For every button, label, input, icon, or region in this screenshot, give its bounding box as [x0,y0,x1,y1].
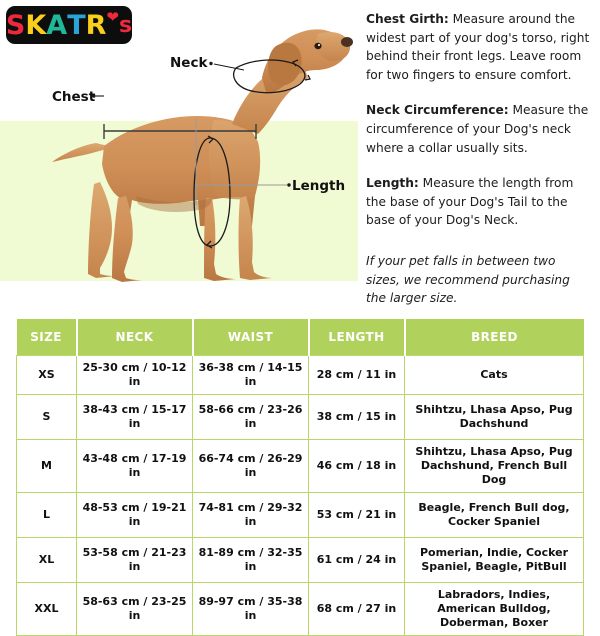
table-header-row: SIZE NECK WAIST LENGTH BREED [17,319,584,356]
cell-size: XXL [17,583,77,636]
dog-illustration-panel: Neck Chest Length [0,0,358,300]
sizing-note: If your pet falls in between two sizes, … [366,252,592,308]
cell-neck: 43-48 cm / 17-19 in [77,440,193,493]
instructions-column: Chest Girth: Measure around the widest p… [366,10,592,308]
cell-size: XL [17,538,77,583]
cell-waist: 66-74 cm / 26-29 in [193,440,309,493]
cell-breed: Shihtzu, Lhasa Apso, Pug Dachshund [405,395,584,440]
table-row: XL 53-58 cm / 21-23 in 81-89 cm / 32-35 … [17,538,584,583]
logo-apostrophe-heart-icon: ❤ [106,4,119,31]
logo-letter-a: A [46,12,67,39]
table-row: L 48-53 cm / 19-21 in 74-81 cm / 29-32 i… [17,493,584,538]
table-row: S 38-43 cm / 15-17 in 58-66 cm / 23-26 i… [17,395,584,440]
cell-waist: 36-38 cm / 14-15 in [193,356,309,395]
logo-letter-s2: s [119,12,132,39]
size-chart-table: SIZE NECK WAIST LENGTH BREED XS 25-30 cm… [16,319,584,636]
column-header-waist: WAIST [193,319,309,356]
cell-size: XS [17,356,77,395]
cell-length: 28 cm / 11 in [309,356,405,395]
cell-neck: 38-43 cm / 15-17 in [77,395,193,440]
table-row: XS 25-30 cm / 10-12 in 36-38 cm / 14-15 … [17,356,584,395]
dog-measurement-diagram [0,0,358,300]
column-header-length: LENGTH [309,319,405,356]
cell-breed: Pomerian, Indie, Cocker Spaniel, Beagle,… [405,538,584,583]
column-header-breed: BREED [405,319,584,356]
instruction-length-heading: Length: [366,176,419,190]
table-row: M 43-48 cm / 17-19 in 66-74 cm / 26-29 i… [17,440,584,493]
cell-waist: 74-81 cm / 29-32 in [193,493,309,538]
table-body: XS 25-30 cm / 10-12 in 36-38 cm / 14-15 … [17,356,584,636]
cell-waist: 58-66 cm / 23-26 in [193,395,309,440]
cell-breed: Shihtzu, Lhasa Apso, Pug Dachshund, Fren… [405,440,584,493]
instruction-neck-circumference: Neck Circumference: Measure the circumfe… [366,101,592,157]
skatrs-logo: SKATR❤s [6,6,132,44]
cell-waist: 81-89 cm / 32-35 in [193,538,309,583]
logo-letter-k: K [25,12,46,39]
column-header-neck: NECK [77,319,193,356]
cell-neck: 48-53 cm / 19-21 in [77,493,193,538]
table-row: XXL 58-63 cm / 23-25 in 89-97 cm / 35-38… [17,583,584,636]
cell-breed: Labradors, Indies, American Bulldog, Dob… [405,583,584,636]
top-section: Neck Chest Length SKATR❤s Chest Girth: M… [0,0,600,300]
cell-length: 53 cm / 21 in [309,493,405,538]
logo-letter-s1: S [6,12,25,39]
cell-length: 46 cm / 18 in [309,440,405,493]
label-chest: Chest [52,89,95,105]
instruction-neck-heading: Neck Circumference: [366,103,509,117]
logo-letter-r: R [86,12,107,39]
cell-length: 61 cm / 24 in [309,538,405,583]
cell-breed: Cats [405,356,584,395]
instruction-chest-heading: Chest Girth: [366,12,449,26]
cell-size: S [17,395,77,440]
cell-size: M [17,440,77,493]
cell-size: L [17,493,77,538]
cell-neck: 25-30 cm / 10-12 in [77,356,193,395]
cell-waist: 89-97 cm / 35-38 in [193,583,309,636]
cell-neck: 58-63 cm / 23-25 in [77,583,193,636]
label-neck: Neck [170,55,207,71]
instruction-length: Length: Measure the length from the base… [366,174,592,230]
logo-letter-t: T [67,12,85,39]
cell-breed: Beagle, French Bull dog, Cocker Spaniel [405,493,584,538]
instruction-chest-girth: Chest Girth: Measure around the widest p… [366,10,592,84]
cell-neck: 53-58 cm / 21-23 in [77,538,193,583]
cell-length: 38 cm / 15 in [309,395,405,440]
column-header-size: SIZE [17,319,77,356]
label-length: Length [292,178,345,194]
table-head: SIZE NECK WAIST LENGTH BREED [17,319,584,356]
cell-length: 68 cm / 27 in [309,583,405,636]
